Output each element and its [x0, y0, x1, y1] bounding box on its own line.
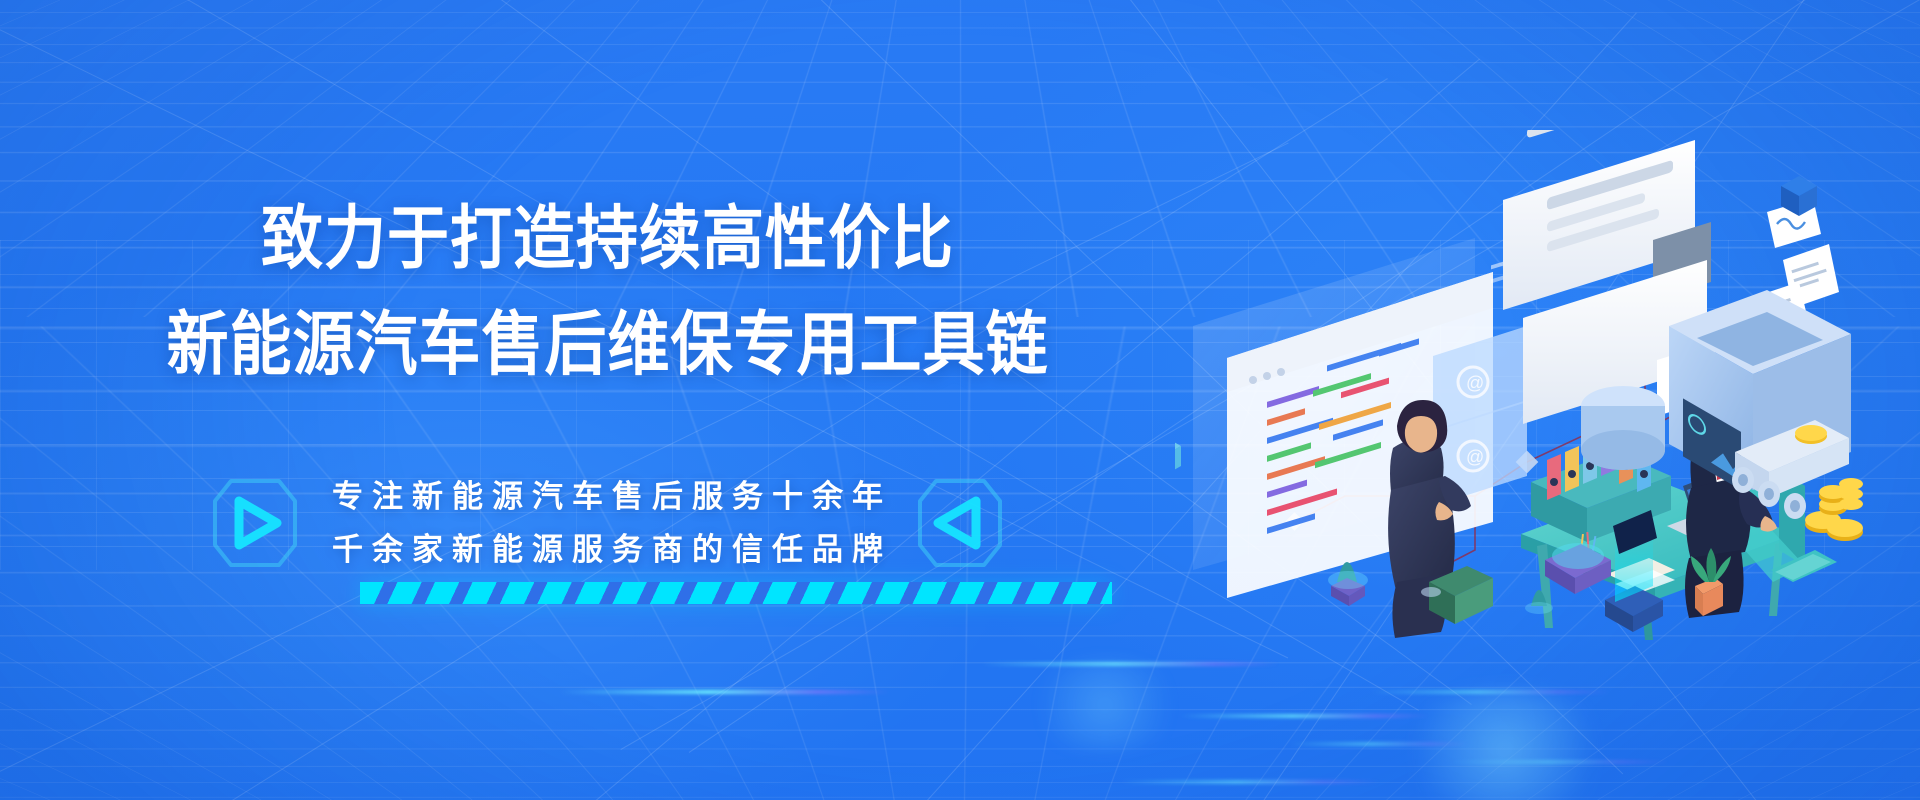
- headline: 致力于打造持续高性价比 新能源汽车售后维保专用工具链: [0, 196, 1215, 380]
- headline-line-1: 致力于打造持续高性价比: [0, 196, 1215, 283]
- play-arrow-right-icon: [205, 471, 301, 575]
- subtitle-block: 专注新能源汽车售后服务十余年 千余家新能源服务商的信任品牌: [0, 470, 1215, 577]
- subtitle-lines: 专注新能源汽车售后服务十余年 千余家新能源服务商的信任品牌: [323, 470, 892, 577]
- subtitle-line-2: 千余家新能源服务商的信任品牌: [323, 523, 892, 576]
- diagonal-stripe-bar: [360, 582, 1112, 604]
- svg-text:@: @: [1466, 447, 1484, 467]
- svg-text:@: @: [1466, 373, 1484, 393]
- subtitle-line-1: 专注新能源汽车售后服务十余年: [323, 470, 892, 523]
- hero-banner: @ @: [0, 0, 1920, 800]
- isometric-illustration: @ @: [1175, 130, 1915, 650]
- headline-line-2: 新能源汽车售后维保专用工具链: [0, 302, 1215, 389]
- play-arrow-left-icon: [914, 471, 1010, 575]
